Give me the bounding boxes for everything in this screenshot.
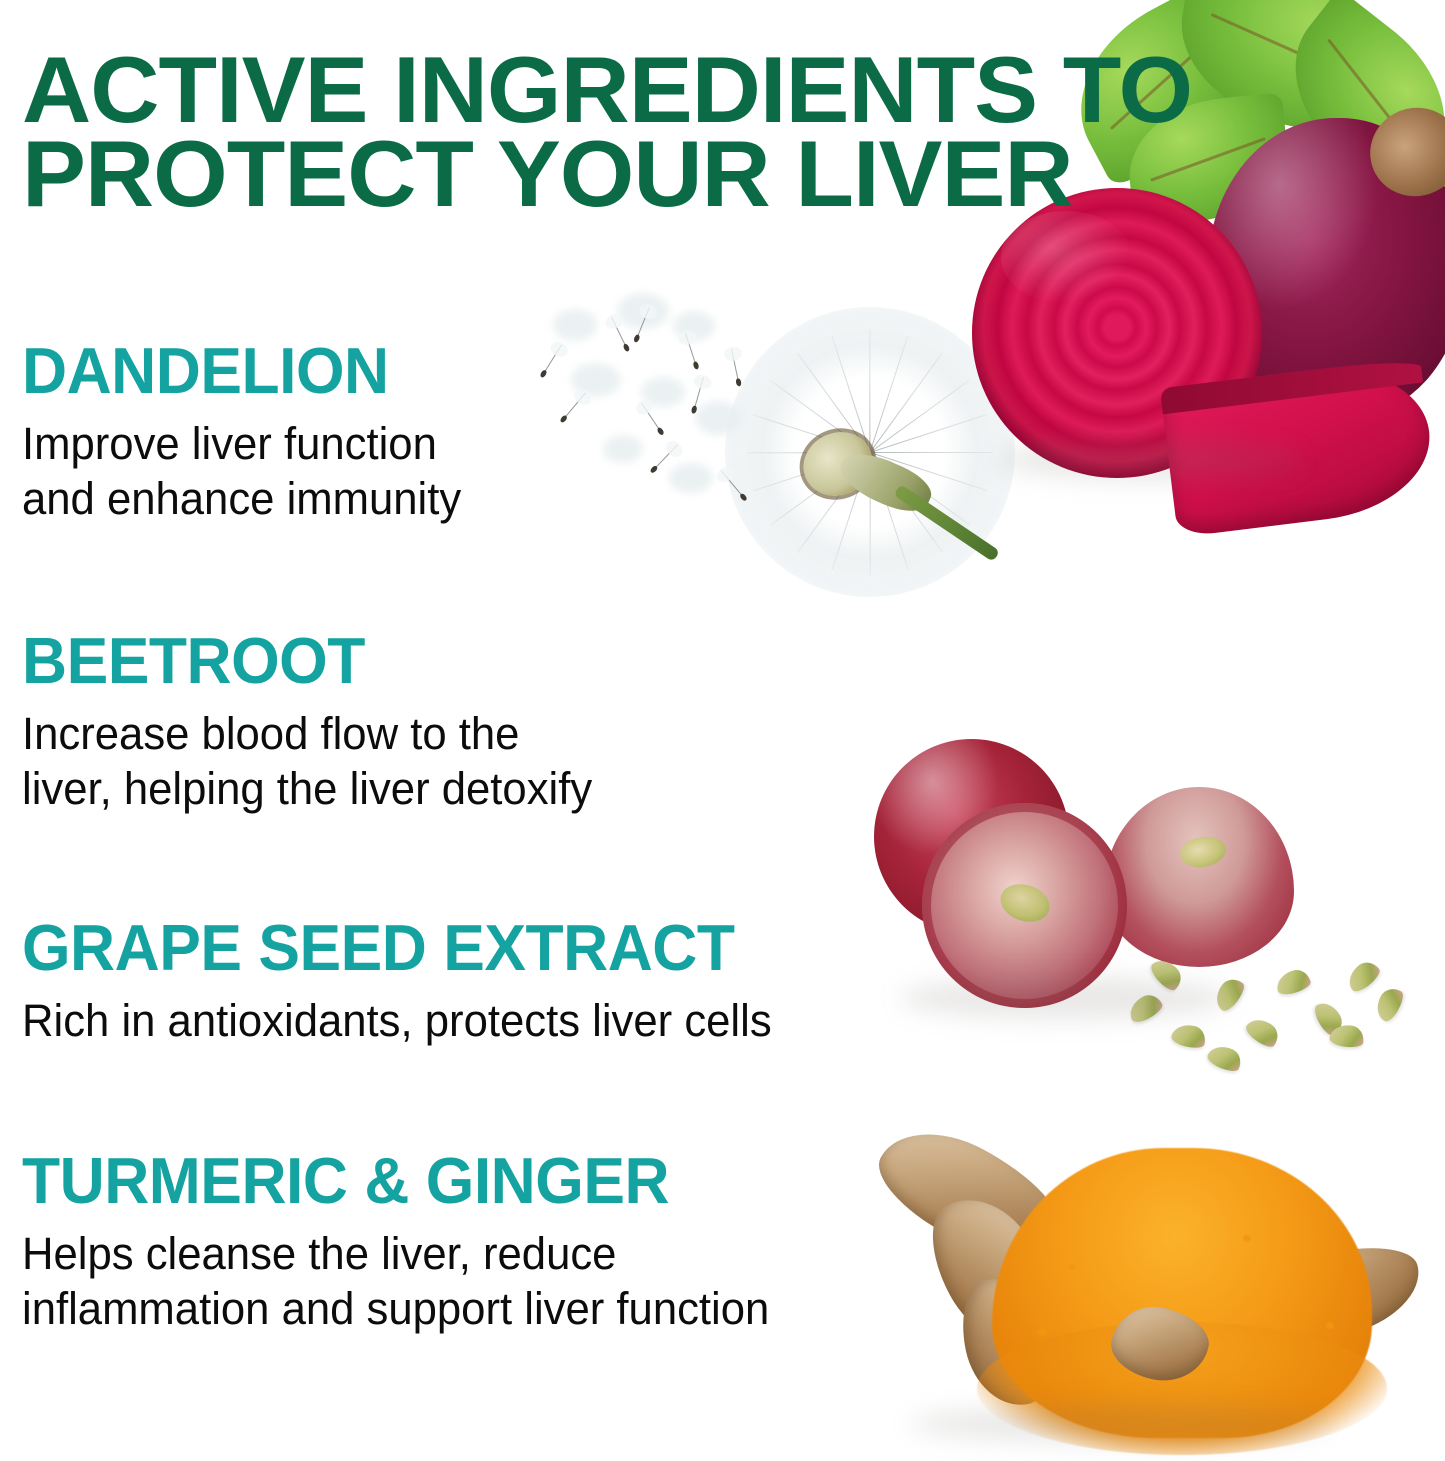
page-title: ACTIVE INGREDIENTS TO PROTECT YOUR LIVER <box>22 48 1226 216</box>
ingredient-block-turmeric-ginger: TURMERIC & GINGER Helps cleanse the live… <box>22 1148 792 1336</box>
dandelion-seed <box>731 349 739 383</box>
grape-seed <box>1170 1021 1208 1051</box>
grape-seed <box>1371 984 1407 1024</box>
description-line: and enhance immunity <box>22 471 461 526</box>
infographic-page: ACTIVE INGREDIENTS TO PROTECT YOUR LIVER… <box>0 0 1445 1461</box>
grape-shadow <box>900 977 1230 1019</box>
ingredient-block-beetroot: BEETROOT Increase blood flow to the live… <box>22 628 610 816</box>
description-line: Improve liver function <box>22 416 461 471</box>
ingredient-description-dandelion: Improve liver function and enhance immun… <box>22 416 461 526</box>
ingredient-block-grape-seed-extract: GRAPE SEED EXTRACT Rich in antioxidants,… <box>22 915 795 1048</box>
grape-seed <box>1243 1013 1283 1051</box>
turmeric-image <box>850 1130 1440 1460</box>
dandelion-seed <box>563 393 586 420</box>
description-line: Increase blood flow to the <box>22 706 592 761</box>
grape-image <box>860 725 1430 1100</box>
ingredient-description-beetroot: Increase blood flow to the liver, helpin… <box>22 706 592 816</box>
dandelion-seed <box>543 345 562 375</box>
dandelion-seed <box>685 333 697 366</box>
title-line-1: ACTIVE INGREDIENTS TO <box>22 48 1226 132</box>
ingredient-description-grape-seed-extract: Rich in antioxidants, protects liver cel… <box>22 993 772 1048</box>
ingredient-name-turmeric-ginger: TURMERIC & GINGER <box>22 1148 762 1214</box>
beet-shadow <box>1000 440 1300 480</box>
turmeric-shadow <box>910 1406 1330 1442</box>
ingredient-description-turmeric-ginger: Helps cleanse the liver, reduce inflamma… <box>22 1226 769 1336</box>
description-line: inflammation and support liver function <box>22 1281 769 1336</box>
grape-half-cut-face <box>1104 787 1294 967</box>
description-line: liver, helping the liver detoxify <box>22 761 592 816</box>
description-line: Helps cleanse the liver, reduce <box>22 1226 769 1281</box>
grape-seed <box>1343 957 1383 995</box>
ingredient-name-dandelion: DANDELION <box>22 338 457 404</box>
title-line-2: PROTECT YOUR LIVER <box>22 132 1226 216</box>
ingredient-name-beetroot: BEETROOT <box>22 628 586 694</box>
ingredient-name-grape-seed-extract: GRAPE SEED EXTRACT <box>22 915 764 981</box>
turmeric-powder-mound <box>992 1148 1372 1438</box>
grape-seed <box>1205 1041 1245 1075</box>
description-line: Rich in antioxidants, protects liver cel… <box>22 993 772 1048</box>
dandelion-seed <box>641 403 661 432</box>
ingredient-block-dandelion: DANDELION Improve liver function and enh… <box>22 338 475 526</box>
dandelion-seed <box>654 445 679 470</box>
grape-seed <box>1274 967 1313 998</box>
